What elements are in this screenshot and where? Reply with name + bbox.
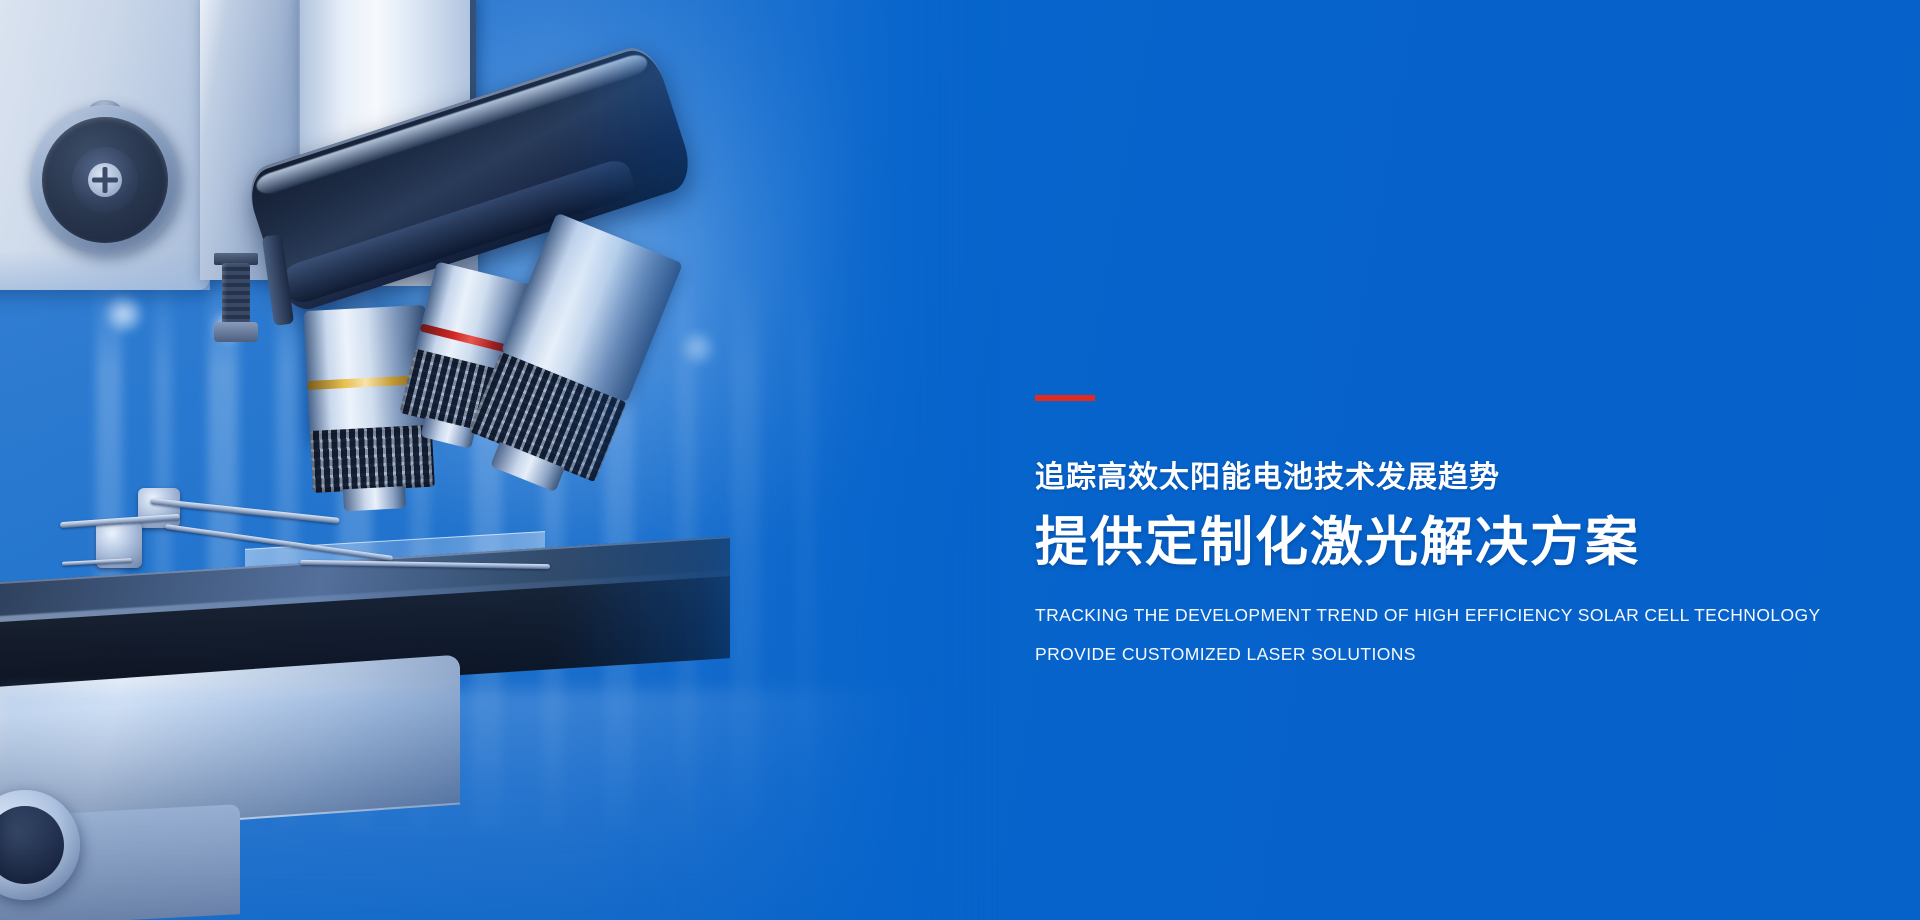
banner-headline: 提供定制化激光解决方案 — [1035, 515, 1875, 571]
banner-english-line-1: TRACKING THE DEVELOPMENT TREND OF HIGH E… — [1035, 607, 1875, 625]
hero-banner: 追踪高效太阳能电池技术发展趋势 提供定制化激光解决方案 TRACKING THE… — [0, 0, 1920, 920]
microscope-photo — [0, 0, 1000, 920]
photo-blend-overlay — [0, 0, 1000, 920]
banner-subheadline: 追踪高效太阳能电池技术发展趋势 — [1035, 463, 1875, 493]
banner-english-line-2: PROVIDE CUSTOMIZED LASER SOLUTIONS — [1035, 646, 1875, 664]
banner-content: 追踪高效太阳能电池技术发展趋势 提供定制化激光解决方案 TRACKING THE… — [1035, 395, 1875, 664]
accent-rule — [1035, 395, 1095, 401]
